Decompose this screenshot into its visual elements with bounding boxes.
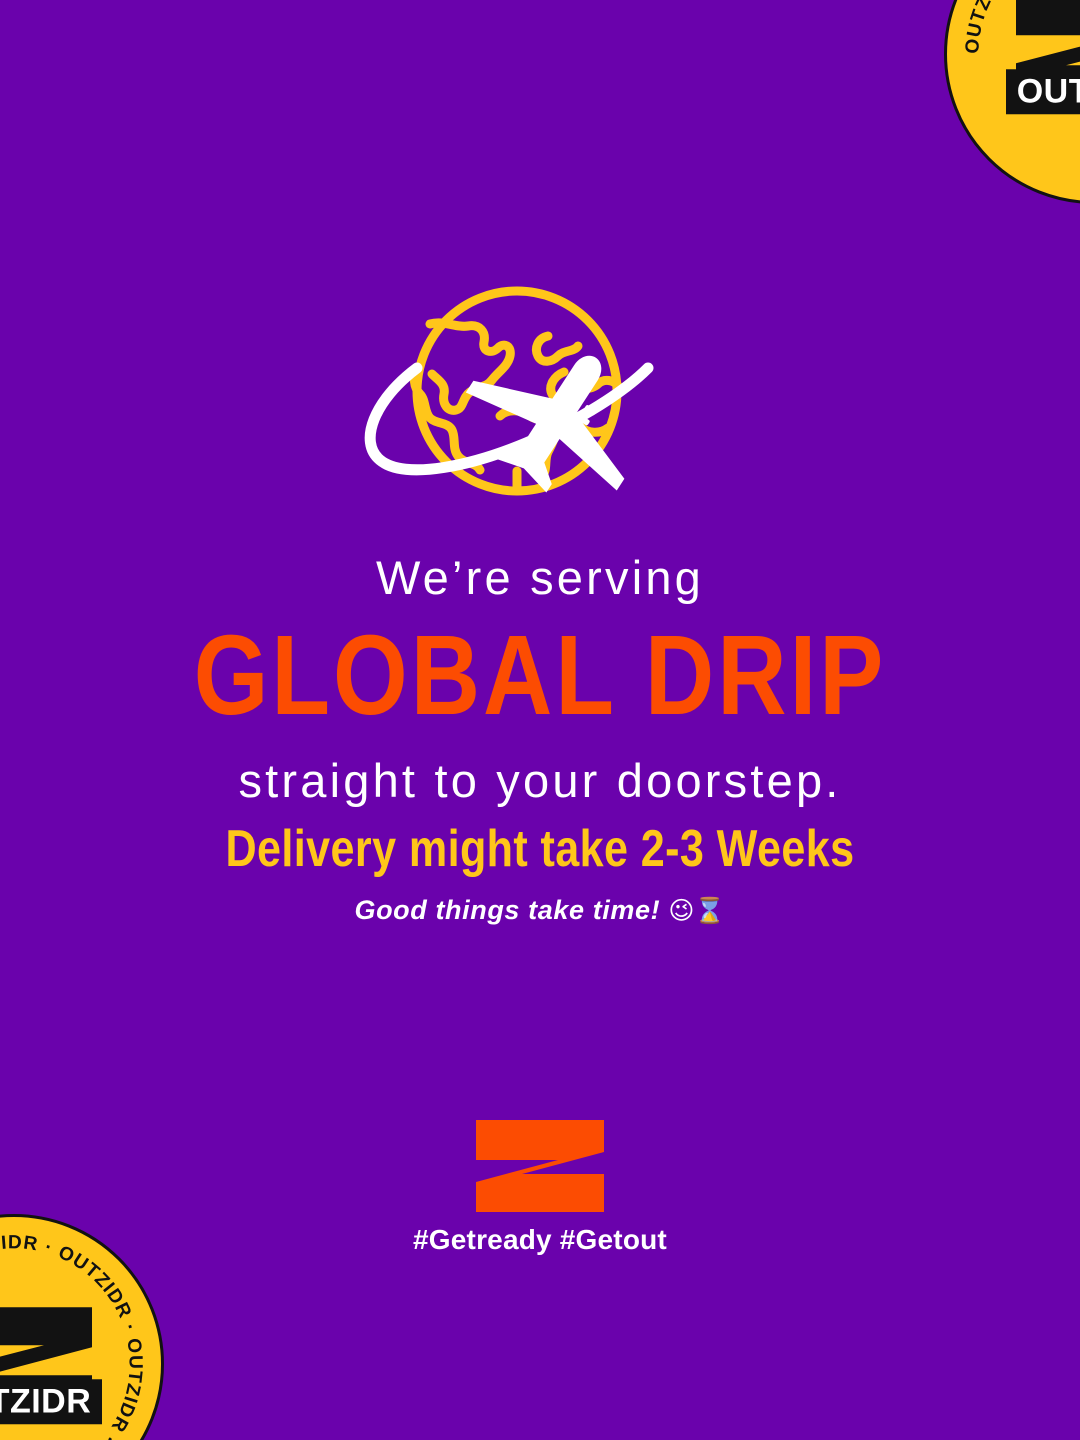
badge-logo-top-right: OUTZIDR: [1006, 0, 1080, 115]
corner-badge-top-right: OUTZIDR · OUTZIDR · OUTZIDR · OUTZIDR · …: [944, 0, 1080, 204]
headline-global-drip: GLOBAL DRIP: [0, 617, 1080, 736]
badge-brand-name: OUTZIDR: [1006, 69, 1080, 114]
delivery-notice-block: Delivery might take 2-3 Weeks Good thing…: [0, 820, 1080, 926]
delivery-subnote-text: Good things take time!: [354, 895, 660, 925]
footer-hashtags: #Getready #Getout: [0, 1224, 1080, 1256]
tagline-line-3: straight to your doorstep.: [0, 755, 1080, 808]
wink-hourglass-emoji: 😉⌛: [668, 896, 725, 925]
headline-copy-block: We’re serving GLOBAL DRIP straight to yo…: [0, 552, 1080, 808]
globe-airplane-icon: [352, 276, 722, 516]
footer-brand-block: #Getready #Getout: [0, 1120, 1080, 1256]
delivery-headline: Delivery might take 2-3 Weeks: [11, 820, 1069, 880]
badge-brand-name: OUTZIDR: [0, 1379, 102, 1424]
badge-logo-bottom-left: OUTZIDR: [0, 1303, 102, 1424]
delivery-subnote: Good things take time! 😉⌛: [0, 895, 1080, 926]
poster-canvas: OUTZIDR · OUTZIDR · OUTZIDR · OUTZIDR · …: [0, 0, 1080, 1440]
tagline-line-1: We’re serving: [0, 552, 1080, 605]
outzidr-z-logo-icon: [476, 1120, 604, 1212]
